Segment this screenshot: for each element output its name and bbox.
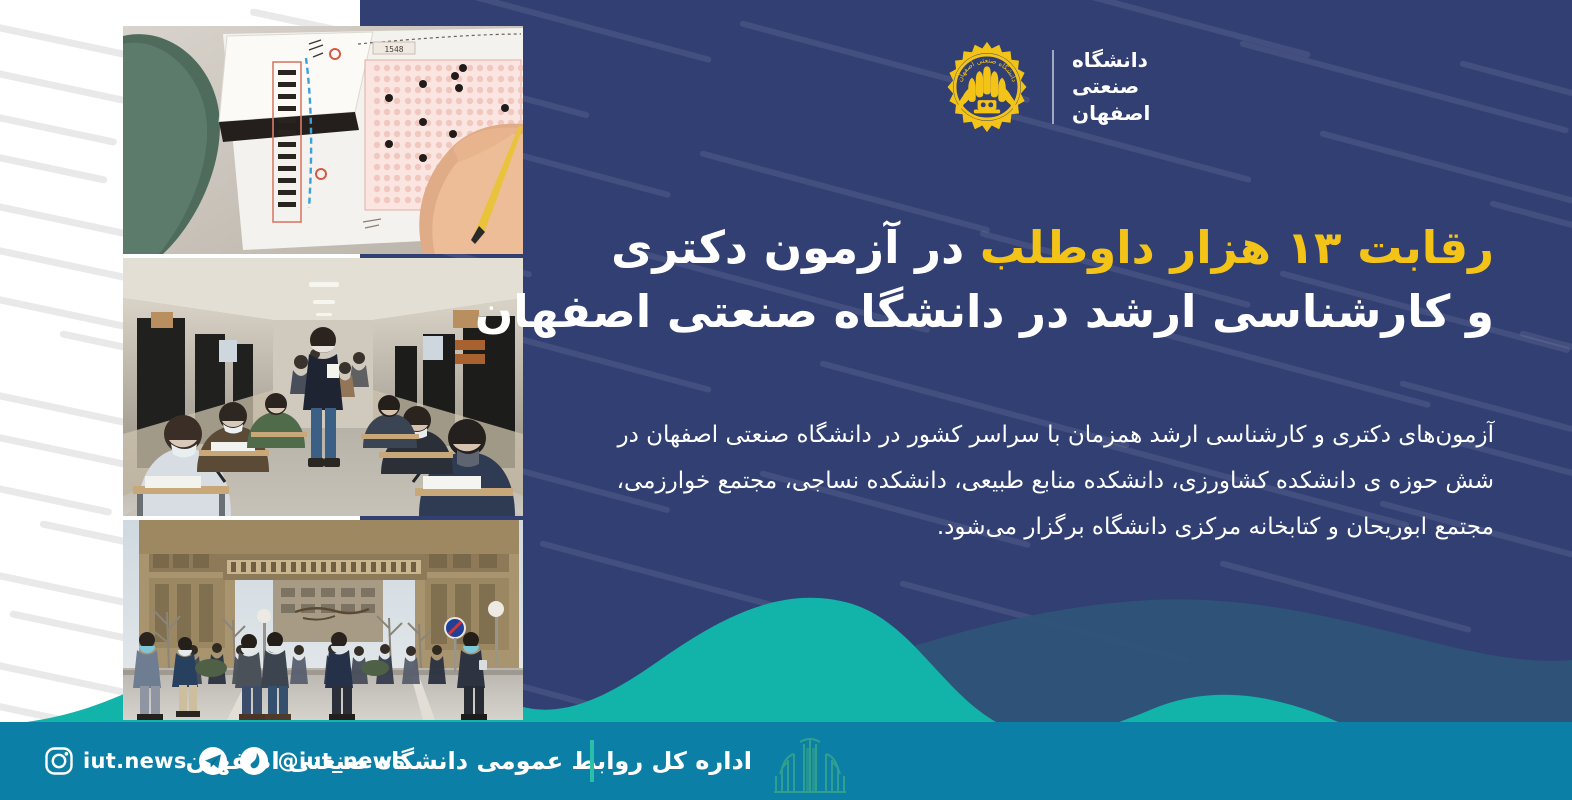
social-links: iut.news @iut_news xyxy=(44,746,405,776)
social-eitaa[interactable]: @iut_news xyxy=(239,746,405,776)
headline-line-1-rest: در آزمون دکتری xyxy=(611,221,980,274)
logo-name-line-3: اصفهان xyxy=(1072,102,1150,126)
logo-name-line-2: صنعتی xyxy=(1072,75,1139,99)
footer-bar: اداره کل روابط عمومی دانشگاه صنعتی اصفها… xyxy=(0,722,1572,800)
university-name: دانشگاه صنعتی اصفهان xyxy=(1072,49,1150,126)
photo-exam-sheet: 1548 xyxy=(123,26,523,254)
university-logo-block: دانشگاه صنعتی اصفهان دانشگاه صنعتی اصفها… xyxy=(940,32,1180,142)
iut-building-silhouette-icon xyxy=(764,738,856,794)
eitaa-icon[interactable] xyxy=(239,746,269,776)
headline: رقابت ۱۳ هزار داوطلب در آزمون دکتری و کا… xyxy=(614,216,1494,344)
headline-highlight: رقابت ۱۳ هزار داوطلب xyxy=(980,221,1494,274)
photo-corridor xyxy=(123,258,523,516)
eitaa-handle: @iut_news xyxy=(278,749,405,773)
poster-canvas: 1548 xyxy=(0,0,1572,800)
body-paragraph: آزمون‌های دکتری و کارشناسی ارشد همزمان ب… xyxy=(594,412,1494,550)
footer-divider xyxy=(590,740,594,782)
iut-gear-emblem-icon: دانشگاه صنعتی اصفهان xyxy=(940,40,1034,134)
headline-line-2: و کارشناسی ارشد در دانشگاه صنعتی اصفهان xyxy=(614,280,1494,344)
social-instagram[interactable]: iut.news xyxy=(44,746,187,776)
social-telegram[interactable] xyxy=(198,746,228,776)
svg-text:1548: 1548 xyxy=(384,45,403,54)
headline-line-1: رقابت ۱۳ هزار داوطلب در آزمون دکتری xyxy=(614,216,1494,280)
photo-campus-gate xyxy=(123,520,523,720)
logo-name-line-1: دانشگاه xyxy=(1072,49,1148,73)
instagram-handle: iut.news xyxy=(83,749,187,773)
logo-divider xyxy=(1052,50,1054,124)
instagram-icon[interactable] xyxy=(44,746,74,776)
telegram-icon[interactable] xyxy=(198,746,228,776)
